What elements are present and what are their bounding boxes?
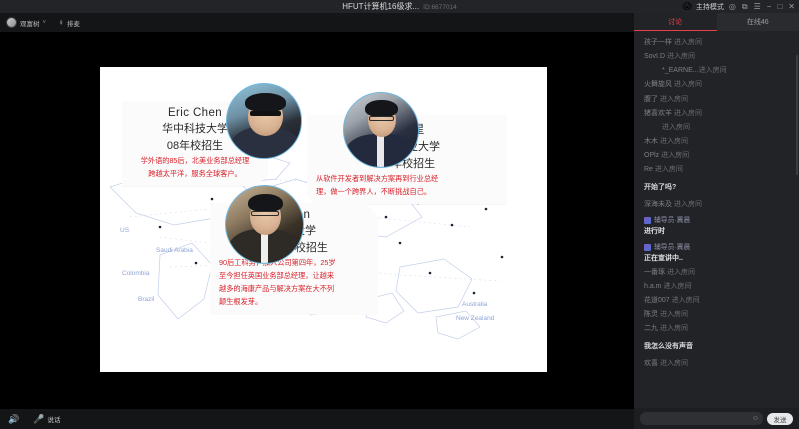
chat-user-message: 辅导员·冀晨正在宣讲中.. bbox=[634, 239, 799, 266]
chat-message-body: 正在宣讲中.. bbox=[644, 254, 789, 264]
map-label: Australia bbox=[462, 301, 487, 308]
record-icon[interactable]: ◎ bbox=[728, 3, 737, 11]
title-bar: HFUT计算机16级求...ID:6677014 😱 主持模式 ◎ ⧉ ☰ − … bbox=[0, 0, 799, 13]
chat-author-name: 辅导员·冀晨 bbox=[654, 216, 690, 226]
room-title: HFUT计算机16级求... bbox=[342, 2, 419, 11]
profile-desc-line: 颠生根发芽。 bbox=[219, 296, 369, 307]
chat-nickname[interactable]: 孩子一样 bbox=[644, 39, 674, 46]
profile-desc-line: 越多的海康产品与解决方案在大不列 bbox=[219, 283, 369, 294]
chat-nickname[interactable]: 火舞旋风 bbox=[644, 81, 674, 88]
chat-join-action: 进入房间 bbox=[667, 53, 695, 60]
chat-join-message: 腹了 进入房间 bbox=[634, 93, 799, 107]
chat-composer: ☺ 发送 bbox=[634, 408, 799, 429]
chat-join-action: 进入房间 bbox=[674, 81, 702, 88]
portrait-zhou bbox=[343, 92, 419, 168]
window-title: HFUT计算机16级求...ID:6677014 bbox=[0, 1, 799, 12]
chat-join-message: Re 进入房间 bbox=[634, 163, 799, 177]
push-to-talk-label: 说话 bbox=[47, 414, 60, 424]
chat-join-message: 欢喜 进入房间 bbox=[634, 357, 799, 371]
chat-join-action: 进入房间 bbox=[660, 311, 688, 318]
speaker-icon[interactable]: 🔊 bbox=[8, 415, 19, 424]
chat-nickname[interactable]: 花道007 bbox=[644, 297, 672, 304]
tab-discussion[interactable]: 讨论 bbox=[634, 13, 717, 31]
stage-top-toolbar: 观富树 ˅ ♀ 排麦 bbox=[0, 13, 634, 32]
profile-desc-line: 从软件开发者到解决方案再到行业总经 bbox=[316, 173, 498, 184]
chevron-down-icon: ˅ bbox=[43, 20, 47, 26]
send-button[interactable]: 发送 bbox=[767, 413, 793, 425]
portrait-eric bbox=[226, 83, 302, 159]
chat-join-message: OPlz 进入房间 bbox=[634, 149, 799, 163]
window-controls: 😱 主持模式 ◎ ⧉ ☰ − □ ✕ bbox=[683, 0, 796, 13]
chat-message-author[interactable]: 辅导员·冀晨 bbox=[644, 243, 789, 253]
chat-join-message: 孩子一样 进入房间 bbox=[634, 36, 799, 50]
role-badge-icon bbox=[644, 217, 651, 224]
chat-join-message: 进入房间 bbox=[634, 121, 799, 135]
chat-join-action: 进入房间 bbox=[667, 269, 695, 276]
microphone-icon: ♀ bbox=[58, 19, 64, 27]
chat-system-message: 开始了吗? bbox=[634, 177, 799, 197]
chat-join-action: 进入房间 bbox=[699, 67, 727, 74]
chat-nickname[interactable]: *_EARNE... bbox=[644, 66, 699, 76]
chat-nickname[interactable]: 深海未及 bbox=[644, 201, 674, 208]
chat-nickname[interactable]: 陈灵 bbox=[644, 311, 660, 318]
chat-join-message: 深海未及 进入房间 bbox=[634, 198, 799, 212]
chat-join-message: 木木 进入房间 bbox=[634, 135, 799, 149]
chat-join-action: 进入房间 bbox=[674, 201, 702, 208]
chat-nickname[interactable]: OPlz bbox=[644, 152, 661, 159]
chat-nickname[interactable]: h.a.m bbox=[644, 283, 663, 290]
chat-join-action: 进入房间 bbox=[660, 96, 688, 103]
chat-join-action: 进入房间 bbox=[672, 297, 700, 304]
current-user-name: 观富树 bbox=[20, 18, 40, 28]
chat-join-action: 进入房间 bbox=[674, 110, 702, 117]
chat-nickname[interactable]: 腹了 bbox=[644, 96, 660, 103]
share-icon[interactable]: ⧉ bbox=[741, 3, 749, 11]
host-mode-label[interactable]: 主持模式 bbox=[696, 2, 724, 12]
map-label: New Zealand bbox=[456, 315, 494, 322]
role-badge-icon bbox=[644, 244, 651, 251]
profile-desc-line: 至今担任英国业务部总经理，让越来 bbox=[219, 270, 369, 281]
chat-join-action: 进入房间 bbox=[660, 138, 688, 145]
chat-tabs: 讨论 在线46 bbox=[634, 13, 799, 31]
chat-panel: 讨论 在线46 孩子一样 进入房间SovI.D 进入房间*_EARNE... 进… bbox=[634, 13, 799, 429]
chat-nickname[interactable]: SovI.D bbox=[644, 53, 667, 60]
live-class-app: HFUT计算机16级求...ID:6677014 😱 主持模式 ◎ ⧉ ☰ − … bbox=[0, 0, 799, 429]
chat-message-author[interactable]: 辅导员·冀晨 bbox=[644, 216, 789, 226]
profile-desc-line: 理，做一个跨界人，不断挑战自己。 bbox=[316, 186, 498, 197]
chat-input[interactable] bbox=[644, 415, 749, 422]
maximize-icon[interactable]: □ bbox=[776, 3, 783, 11]
chat-join-message: 一番琢 进入房间 bbox=[634, 266, 799, 280]
queue-mic-label: 排麦 bbox=[67, 18, 80, 28]
profile-desc-line: 跨越太平洋，服务全球客户。 bbox=[131, 168, 259, 179]
chat-join-message: 火舞旋风 进入房间 bbox=[634, 78, 799, 92]
chat-author-name: 辅导员·冀晨 bbox=[654, 243, 690, 253]
chat-nickname[interactable]: 二九 bbox=[644, 325, 660, 332]
map-label: Saudi Arabia bbox=[156, 247, 193, 254]
push-to-talk-button[interactable]: 🎤 说话 bbox=[33, 414, 60, 424]
emoji-icon[interactable]: ☺ bbox=[752, 415, 759, 422]
microphone-icon: 🎤 bbox=[33, 415, 44, 424]
chat-join-action: 进入房间 bbox=[674, 39, 702, 46]
tab-online-members[interactable]: 在线46 bbox=[717, 13, 799, 31]
chat-nickname[interactable]: Re bbox=[644, 166, 655, 173]
minimize-icon[interactable]: − bbox=[766, 3, 773, 11]
chat-join-message: 陈灵 进入房间 bbox=[634, 308, 799, 322]
host-avatar-emoji-icon: 😱 bbox=[683, 2, 692, 11]
room-id: ID:6677014 bbox=[423, 4, 457, 11]
stage-bottom-toolbar: 🔊 🎤 说话 bbox=[0, 409, 634, 429]
menu-icon[interactable]: ☰ bbox=[753, 3, 762, 11]
chat-message-body: 进行时 bbox=[644, 227, 789, 237]
chat-scrollbar[interactable] bbox=[796, 55, 798, 175]
chat-join-action: 进入房间 bbox=[660, 360, 688, 367]
map-label: US bbox=[120, 227, 129, 234]
chat-join-message: *_EARNE... 进入房间 bbox=[634, 64, 799, 78]
chat-join-message: SovI.D 进入房间 bbox=[634, 50, 799, 64]
portrait-jason bbox=[225, 185, 304, 264]
chat-nickname[interactable]: 一番琢 bbox=[644, 269, 667, 276]
chat-join-action: 进入房间 bbox=[661, 152, 689, 159]
chat-nickname[interactable]: 欢喜 bbox=[644, 360, 660, 367]
chat-join-action: 进入房间 bbox=[662, 124, 690, 131]
chat-user-message: 辅导员·冀晨进行时 bbox=[634, 212, 799, 239]
map-label: Brazil bbox=[138, 296, 154, 303]
chat-message-list[interactable]: 孩子一样 进入房间SovI.D 进入房间*_EARNE... 进入房间火舞旋风 … bbox=[634, 31, 799, 408]
map-label: Colombia bbox=[122, 270, 149, 277]
chat-nickname[interactable]: 木木 bbox=[644, 138, 660, 145]
chat-input-wrapper[interactable]: ☺ bbox=[640, 412, 763, 425]
queue-mic-button[interactable]: ♀ 排麦 bbox=[58, 18, 80, 28]
chat-system-message: 我怎么没有声音 bbox=[634, 336, 799, 356]
slide-canvas: US Saudi Arabia UZ Qatar Colombia Brazil… bbox=[100, 67, 547, 372]
current-user-chip[interactable]: 观富树 ˅ bbox=[6, 17, 46, 28]
chat-join-message: 猪喜欢羊 进入房间 bbox=[634, 107, 799, 121]
chat-join-message: 二九 进入房间 bbox=[634, 322, 799, 336]
close-icon[interactable]: ✕ bbox=[787, 3, 796, 11]
chat-join-message: 花道007 进入房间 bbox=[634, 294, 799, 308]
chat-join-action: 进入房间 bbox=[663, 283, 691, 290]
presentation-stage[interactable]: US Saudi Arabia UZ Qatar Colombia Brazil… bbox=[0, 32, 634, 409]
avatar bbox=[6, 17, 17, 28]
chat-nickname[interactable]: 猪喜欢羊 bbox=[644, 110, 674, 117]
chat-join-message: h.a.m 进入房间 bbox=[634, 280, 799, 294]
chat-join-action: 进入房间 bbox=[655, 166, 683, 173]
chat-join-action: 进入房间 bbox=[660, 325, 688, 332]
